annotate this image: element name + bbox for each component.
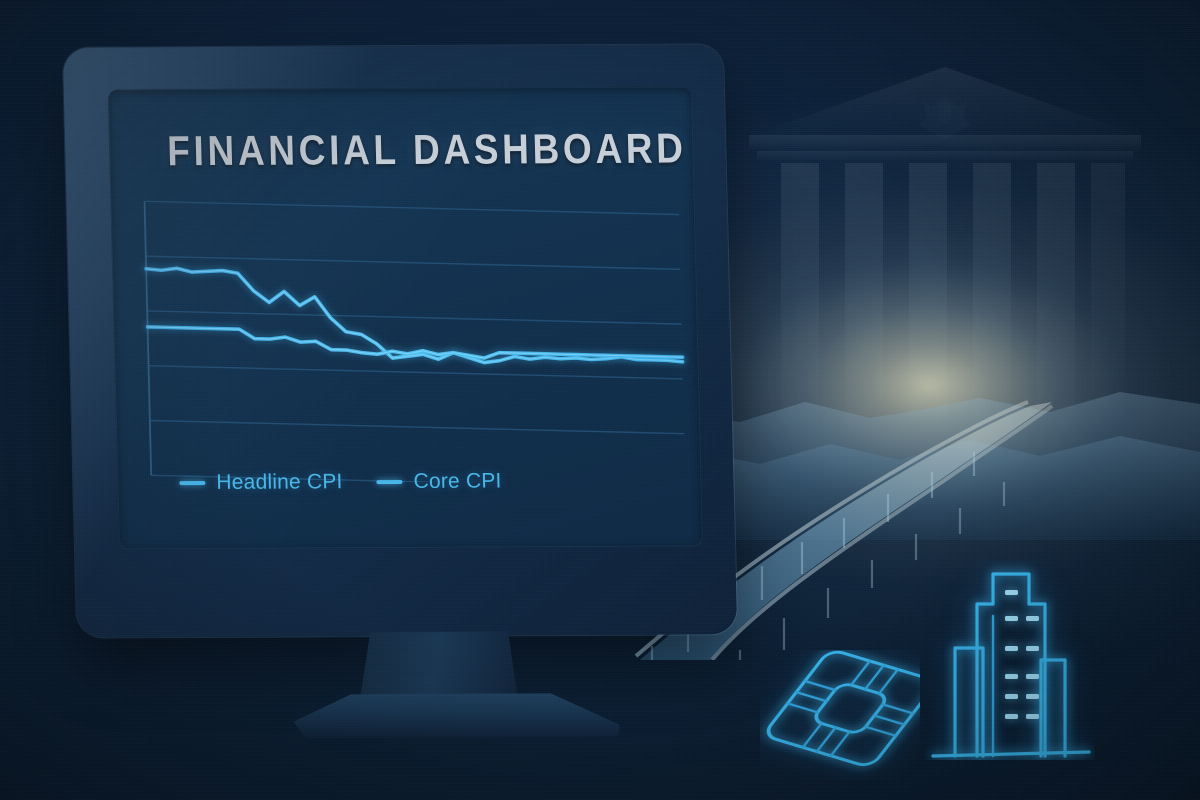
chart-gridline bbox=[145, 199, 679, 218]
chart-gridlines bbox=[145, 199, 686, 484]
financial-dashboard-scene: FINANCIAL DASHBOARD Headlin bbox=[0, 0, 1200, 800]
monitor-screen: FINANCIAL DASHBOARD Headlin bbox=[108, 87, 703, 550]
legend-swatch-icon bbox=[377, 480, 403, 484]
chart-series bbox=[146, 266, 682, 365]
legend-item-core-cpi[interactable]: Core CPI bbox=[376, 469, 502, 494]
legend-label: Core CPI bbox=[413, 469, 502, 493]
chart-gridline bbox=[150, 418, 684, 437]
chart-y-axis bbox=[145, 201, 152, 475]
chart-legend: Headline CPI Core CPI bbox=[179, 469, 502, 495]
page-title: FINANCIAL DASHBOARD bbox=[167, 125, 687, 176]
legend-label: Headline CPI bbox=[216, 470, 343, 495]
microchip-icon[interactable] bbox=[760, 650, 920, 780]
chart-gridline bbox=[149, 363, 683, 382]
desktop-monitor: FINANCIAL DASHBOARD Headlin bbox=[63, 44, 738, 637]
cpi-line-chart bbox=[126, 191, 693, 484]
legend-swatch-icon bbox=[179, 481, 205, 485]
skyscraper-icon[interactable] bbox=[925, 560, 1095, 760]
chart-gridline bbox=[147, 308, 681, 327]
legend-item-headline-cpi[interactable]: Headline CPI bbox=[179, 470, 343, 495]
